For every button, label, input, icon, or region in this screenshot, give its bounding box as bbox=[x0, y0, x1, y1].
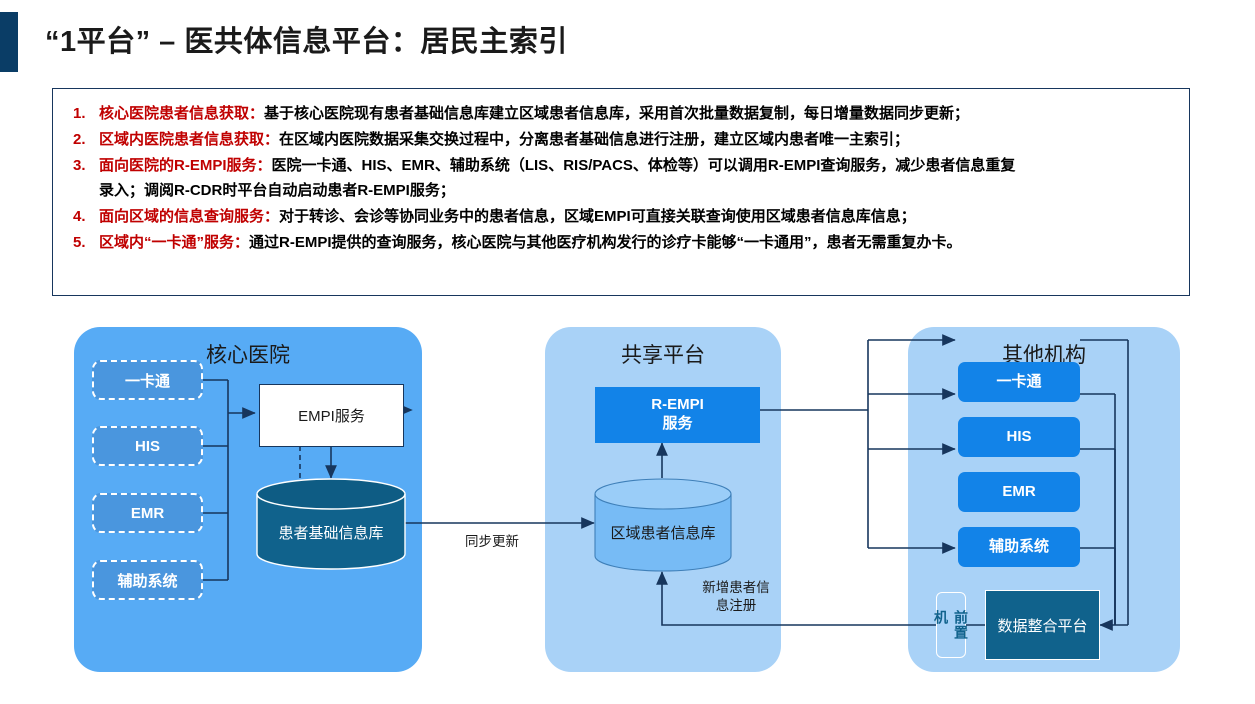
bullet-body: 面向区域的信息查询服务：对于转诊、会诊等协同业务中的患者信息，区域EMPI可直接… bbox=[99, 204, 1173, 230]
list-item: 1. 核心医院患者信息获取：基于核心医院现有患者基础信息库建立区域患者信息库，采… bbox=[69, 101, 1173, 127]
bullet-continuation: 录入；调阅R-CDR时平台自动启动患者R-EMPI服务； bbox=[69, 178, 1173, 204]
core-empi-service-label: EMPI服务 bbox=[298, 405, 365, 426]
bullet-rest: 对于转诊、会诊等协同业务中的患者信息，区域EMPI可直接关联查询使用区域患者信息… bbox=[279, 208, 916, 225]
bullet-lead: 区域内“一卡通”服务： bbox=[99, 234, 249, 251]
core-system-emr-label: EMR bbox=[131, 505, 164, 522]
bullet-lead: 核心医院患者信息获取： bbox=[99, 105, 264, 122]
bullet-number: 5. bbox=[69, 230, 99, 256]
core-system-auxiliary[interactable]: 辅助系统 bbox=[92, 560, 203, 600]
shared-rempi-service-label: R-EMPI 服务 bbox=[651, 396, 704, 434]
bullet-number: 4. bbox=[69, 204, 99, 230]
shared-database-cylinder[interactable]: 区域患者信息库 bbox=[594, 478, 732, 572]
edge-label-new-patient-register: 新增患者信 息注册 bbox=[676, 579, 796, 614]
front-end-machine-box[interactable]: 前置 机 bbox=[936, 592, 966, 658]
core-system-his[interactable]: HIS bbox=[92, 426, 203, 466]
other-system-auxiliary-label: 辅助系统 bbox=[989, 538, 1049, 557]
title-accent-bar bbox=[0, 12, 18, 72]
core-empi-service-box[interactable]: EMPI服务 bbox=[259, 384, 404, 447]
list-item: 3. 面向医院的R-EMPI服务：医院一卡通、HIS、EMR、辅助系统（LIS、… bbox=[69, 153, 1173, 179]
panel-shared-platform-title: 共享平台 bbox=[545, 339, 781, 369]
other-system-emr-label: EMR bbox=[1002, 483, 1035, 502]
bullet-rest: 基于核心医院现有患者基础信息库建立区域患者信息库，采用首次批量数据复制，每日增量… bbox=[264, 105, 969, 122]
core-system-his-label: HIS bbox=[135, 438, 160, 455]
bullet-number: 1. bbox=[69, 101, 99, 127]
core-database-shape bbox=[256, 478, 406, 570]
shared-database-shape bbox=[594, 478, 732, 572]
bullet-body: 区域内“一卡通”服务：通过R-EMPI提供的查询服务，核心医院与其他医疗机构发行… bbox=[99, 230, 1173, 256]
list-item: 4. 面向区域的信息查询服务：对于转诊、会诊等协同业务中的患者信息，区域EMPI… bbox=[69, 204, 1173, 230]
data-integration-platform-box[interactable]: 数据整合平台 bbox=[985, 590, 1100, 660]
architecture-diagram: 核心医院 共享平台 其他机构 bbox=[0, 300, 1255, 704]
bullet-number: 3. bbox=[69, 153, 99, 179]
other-system-emr[interactable]: EMR bbox=[958, 472, 1080, 512]
description-textbox: 1. 核心医院患者信息获取：基于核心医院现有患者基础信息库建立区域患者信息库，采… bbox=[52, 88, 1190, 296]
bullet-rest: 医院一卡通、HIS、EMR、辅助系统（LIS、RIS/PACS、体检等）可以调用… bbox=[272, 157, 1016, 174]
core-system-yikatong-label: 一卡通 bbox=[125, 370, 170, 391]
list-item: 5. 区域内“一卡通”服务：通过R-EMPI提供的查询服务，核心医院与其他医疗机… bbox=[69, 230, 1173, 256]
other-system-yikatong[interactable]: 一卡通 bbox=[958, 362, 1080, 402]
core-system-emr[interactable]: EMR bbox=[92, 493, 203, 533]
core-system-yikatong[interactable]: 一卡通 bbox=[92, 360, 203, 400]
bullet-body: 核心医院患者信息获取：基于核心医院现有患者基础信息库建立区域患者信息库，采用首次… bbox=[99, 101, 1173, 127]
bullet-lead: 面向医院的R-EMPI服务： bbox=[99, 157, 272, 174]
bullet-number: 2. bbox=[69, 127, 99, 153]
core-system-auxiliary-label: 辅助系统 bbox=[117, 570, 177, 591]
bullet-body: 面向医院的R-EMPI服务：医院一卡通、HIS、EMR、辅助系统（LIS、RIS… bbox=[99, 153, 1173, 179]
bullet-lead: 区域内医院患者信息获取： bbox=[99, 131, 279, 148]
bullet-rest: 在区域内医院数据采集交换过程中，分离患者基础信息进行注册，建立区域内患者唯一主索… bbox=[279, 131, 909, 148]
page-title: “1平台” – 医共体信息平台：居民主索引 bbox=[45, 18, 568, 60]
core-database-cylinder[interactable]: 患者基础信息库 bbox=[256, 478, 406, 570]
bullet-body: 区域内医院患者信息获取：在区域内医院数据采集交换过程中，分离患者基础信息进行注册… bbox=[99, 127, 1173, 153]
other-system-his-label: HIS bbox=[1006, 428, 1031, 447]
bullet-rest: 通过R-EMPI提供的查询服务，核心医院与其他医疗机构发行的诊疗卡能够“一卡通用… bbox=[249, 234, 962, 251]
bullet-lead: 面向区域的信息查询服务： bbox=[99, 208, 279, 225]
list-item: 2. 区域内医院患者信息获取：在区域内医院数据采集交换过程中，分离患者基础信息进… bbox=[69, 127, 1173, 153]
shared-rempi-service-box[interactable]: R-EMPI 服务 bbox=[595, 387, 760, 443]
other-system-auxiliary[interactable]: 辅助系统 bbox=[958, 527, 1080, 567]
edge-label-sync-update: 同步更新 bbox=[432, 533, 552, 551]
other-system-yikatong-label: 一卡通 bbox=[996, 373, 1041, 392]
other-system-his[interactable]: HIS bbox=[958, 417, 1080, 457]
front-end-machine-label: 前置 机 bbox=[931, 610, 971, 640]
data-integration-platform-label: 数据整合平台 bbox=[997, 615, 1087, 636]
